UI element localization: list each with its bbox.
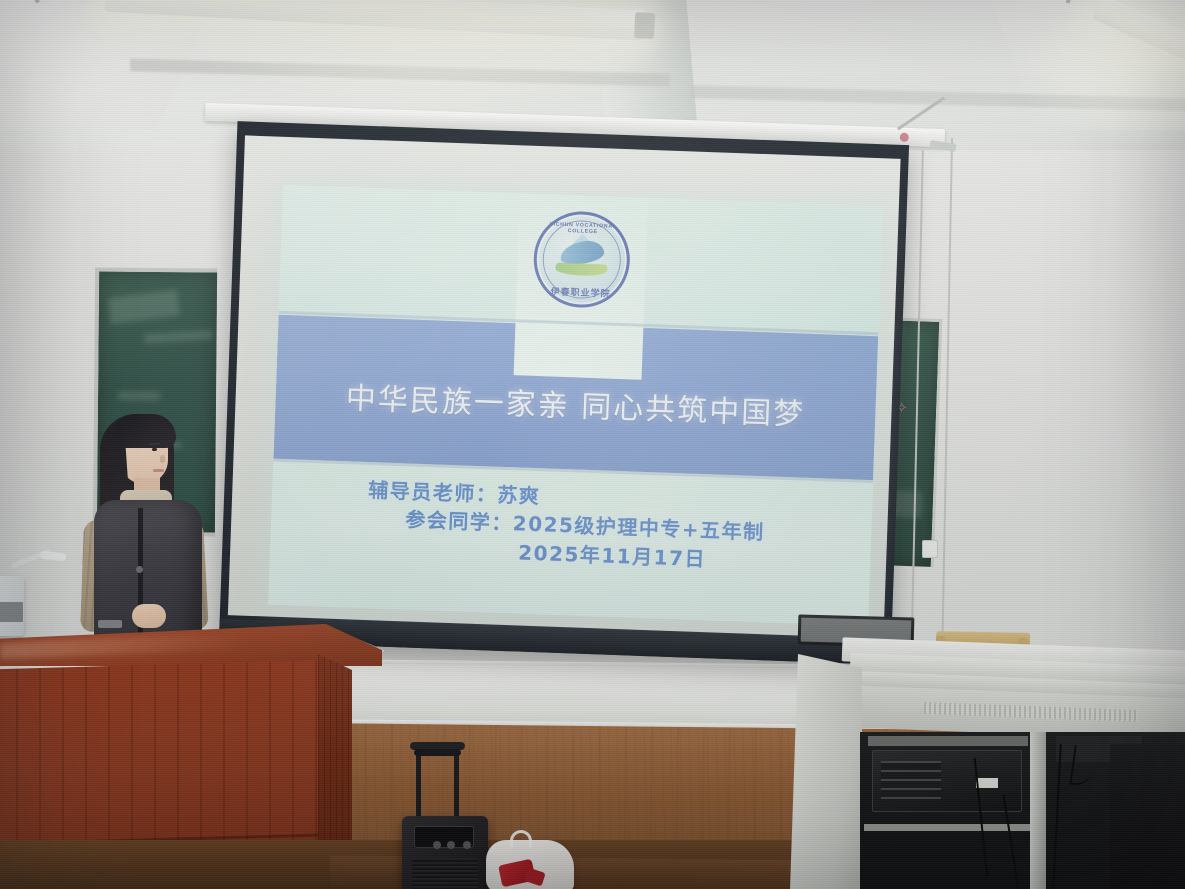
av-equipment-cabinet[interactable] (790, 628, 1185, 889)
housing-indicator (900, 133, 909, 142)
plastic-bag (486, 840, 574, 889)
portable-pa-speaker[interactable] (398, 742, 490, 889)
emblem-arc-bottom-text: 伊春职业学院 (532, 284, 628, 300)
cabinet-divider-post (1030, 732, 1046, 889)
speaker-knob-1[interactable] (433, 841, 441, 849)
speaker-body (402, 816, 488, 889)
classroom-photo: ✧ (0, 0, 1185, 889)
cabinet-side-panel (790, 654, 862, 889)
screen-surface: YICHUN VOCATIONAL COLLEGE 伊春职业学院 中华民族一家亲… (228, 135, 901, 638)
speaker-knob-2[interactable] (447, 841, 455, 849)
speaker-control-panel[interactable] (414, 826, 474, 848)
presenter (76, 408, 212, 643)
bag-handle (510, 830, 532, 848)
speaker-grille (412, 858, 478, 889)
cable-clip (922, 540, 938, 558)
cabinet-interior (860, 732, 1185, 889)
speaker-knob-3[interactable] (463, 841, 471, 849)
projected-slide: YICHUN VOCATIONAL COLLEGE 伊春职业学院 中华民族一家亲… (268, 185, 883, 626)
ceiling-shadow-line-1 (130, 58, 670, 86)
college-emblem-icon: YICHUN VOCATIONAL COLLEGE 伊春职业学院 (532, 210, 631, 309)
equipment-label (976, 778, 998, 788)
av-receiver-unit (872, 750, 1022, 812)
power-cable-3 (1069, 745, 1094, 787)
projector-screen[interactable]: YICHUN VOCATIONAL COLLEGE 伊春职业学院 中华民族一家亲… (219, 121, 909, 665)
power-cable-2 (1052, 744, 1062, 889)
